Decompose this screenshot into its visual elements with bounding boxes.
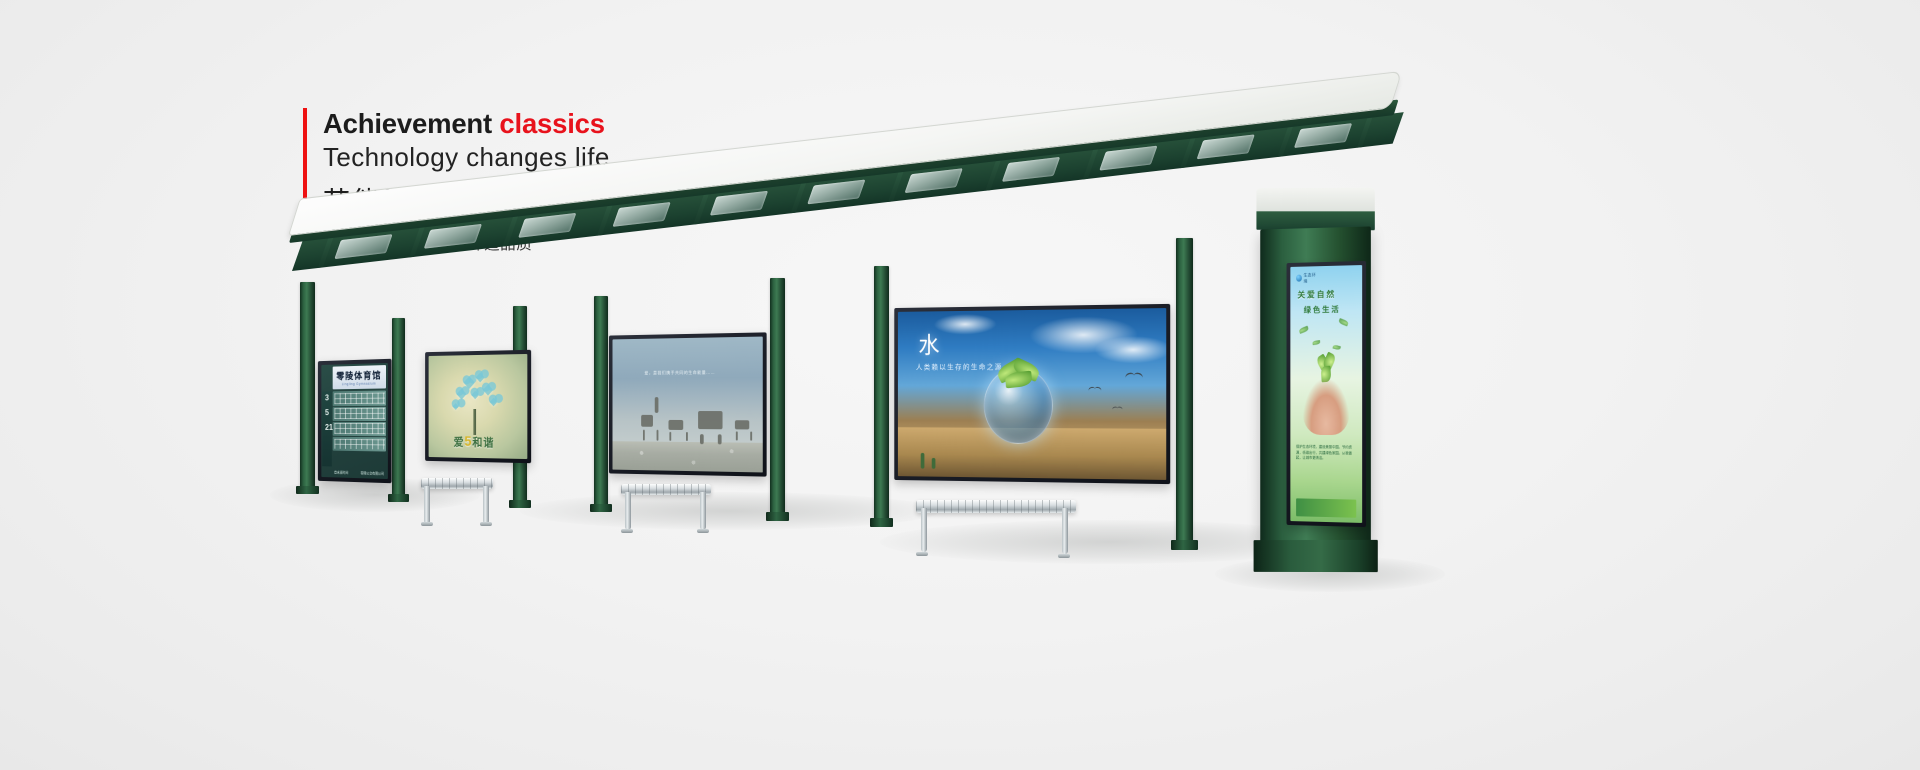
giraffe-icon (642, 415, 654, 427)
leaf-icon (1332, 345, 1341, 351)
animals-ad-lightbox[interactable]: 爱，是我们携手共同的生命能量…… (609, 332, 767, 476)
tree-ad-lightbox[interactable]: 爱5和谐 (425, 350, 531, 463)
animals-ad-ground (612, 441, 762, 473)
bench-seat (621, 484, 711, 495)
heart-icon (490, 398, 498, 407)
support-column-1 (300, 282, 315, 490)
zebra-leg (736, 431, 738, 440)
timetable-footer-left: 首末班时间 (334, 470, 348, 475)
timetable-row: 3 (332, 391, 385, 406)
bench-seat (916, 500, 1076, 513)
zebra-leg (750, 432, 752, 441)
kiosk-body-text: 保护生态环境，建设美丽中国。节约资源，低碳出行，共建绿色家园。从我做起，让城市更… (1296, 445, 1356, 462)
leaf-icon (1312, 340, 1320, 345)
bench-foot (421, 522, 433, 526)
bus-shelter-scene: 零陵体育馆 Lingling Gymnasium 3 5 21 (0, 0, 1920, 770)
timetable-footer-right: 零陵公交有限公司 (361, 471, 384, 477)
timetable-cells (334, 393, 384, 404)
leaf-icon (1338, 318, 1349, 326)
station-name-en: Lingling Gymnasium (342, 382, 376, 387)
kiosk-headline-2: 绿色生活 (1304, 304, 1341, 316)
water-ad-lightbox[interactable]: 水 人类赖以生存的生命之源 (894, 304, 1170, 484)
route-number: 5 (325, 408, 329, 417)
cactus-icon (931, 458, 935, 469)
kiosk-logo: 生态环境 (1296, 271, 1317, 284)
kiosk-bottom-strip (1296, 498, 1356, 517)
bird-icon (1112, 406, 1122, 410)
heart-icon (453, 403, 459, 410)
heart-icon (471, 391, 479, 399)
support-column-2 (392, 318, 405, 498)
zebra-icon (735, 421, 749, 430)
camel-leg (686, 432, 688, 441)
giraffe-leg (656, 430, 658, 441)
giraffe-neck (655, 397, 659, 413)
tree-trunk (473, 409, 476, 436)
bench-foot (480, 522, 492, 526)
support-column-6 (874, 266, 889, 522)
leaf-icon (1298, 326, 1309, 334)
bench-foot (621, 529, 633, 533)
bench-leg (700, 492, 706, 530)
column-base-5 (766, 512, 789, 521)
bench-leg (921, 508, 927, 552)
column-base-6 (870, 518, 893, 527)
tree-ad-headline-2: 和谐 (472, 437, 494, 449)
tree-ad-headline: 爱5和谐 (454, 433, 495, 451)
bench-foot (697, 529, 709, 533)
station-name-cn: 零陵体育馆 (336, 368, 381, 382)
water-ad-subline: 人类赖以生存的生命之源 (916, 362, 1003, 372)
support-column-7 (1176, 238, 1193, 544)
sprout-icon (1005, 360, 1032, 390)
bench-2 (621, 484, 711, 540)
kiosk-ad-lightbox[interactable]: 生态环境 关爱自然 绿色生活 保护生态环境，建设美丽中国。节约资源，低碳出行，共… (1287, 261, 1367, 527)
timetable-row: 5 (332, 406, 385, 421)
bird-icon (1089, 387, 1102, 392)
tree-ad-headline-big: 5 (464, 433, 472, 449)
elephant-leg (700, 434, 704, 444)
kiosk-cap (1256, 188, 1374, 230)
route-number: 3 (325, 393, 329, 402)
route-number: 21 (325, 423, 333, 432)
camel-leg (670, 432, 672, 441)
timetable-grid: 3 5 21 (332, 391, 385, 468)
timetable-cells (334, 423, 384, 434)
animals-ad-caption: 爱，是我们携手共同的生命能量…… (644, 370, 715, 377)
bird-icon (1125, 373, 1142, 380)
timetable-cells (334, 408, 384, 419)
giraffe-leg (643, 429, 645, 440)
bench-foot (916, 552, 928, 556)
timetable-row (332, 437, 385, 452)
heart-icon (476, 372, 485, 382)
bench-3 (916, 500, 1076, 568)
column-base-7 (1171, 540, 1198, 550)
elephant-leg (718, 434, 722, 444)
tree-ad-headline-1: 爱 (454, 436, 465, 448)
bench-leg (625, 492, 631, 530)
timetable-lightbox[interactable]: 零陵体育馆 Lingling Gymnasium 3 5 21 (318, 359, 392, 483)
timetable-cells (334, 438, 384, 450)
cactus-icon (921, 453, 925, 469)
timetable-header: 零陵体育馆 Lingling Gymnasium (332, 365, 385, 389)
cloud (1094, 335, 1166, 363)
hands-illustration (1303, 379, 1349, 436)
timetable-footer: 首末班时间 零陵公交有限公司 (332, 468, 385, 477)
bench-leg (483, 486, 489, 524)
bench-foot (1058, 554, 1070, 558)
column-base-1 (296, 486, 319, 494)
kiosk-headline-1: 关爱自然 (1297, 289, 1336, 301)
bench-leg (424, 486, 430, 524)
bench-leg (1062, 508, 1068, 554)
kiosk-logo-text: 生态环境 (1304, 272, 1318, 284)
camel-icon (668, 420, 683, 430)
cloud (934, 314, 997, 335)
water-ad-headline: 水 (918, 326, 939, 360)
product-banner-stage: Achievement classics Technology changes … (0, 0, 1920, 770)
column-base-2 (388, 494, 409, 502)
elephant-icon (698, 411, 722, 429)
column-base-3 (509, 500, 531, 508)
bench-1 (421, 478, 493, 530)
timetable-row: 21 (332, 422, 385, 437)
support-column-4 (594, 296, 608, 508)
column-base-4 (590, 504, 612, 512)
kiosk-plinth (1254, 540, 1378, 572)
support-column-5 (770, 278, 785, 516)
logo-dot-icon (1296, 275, 1302, 282)
